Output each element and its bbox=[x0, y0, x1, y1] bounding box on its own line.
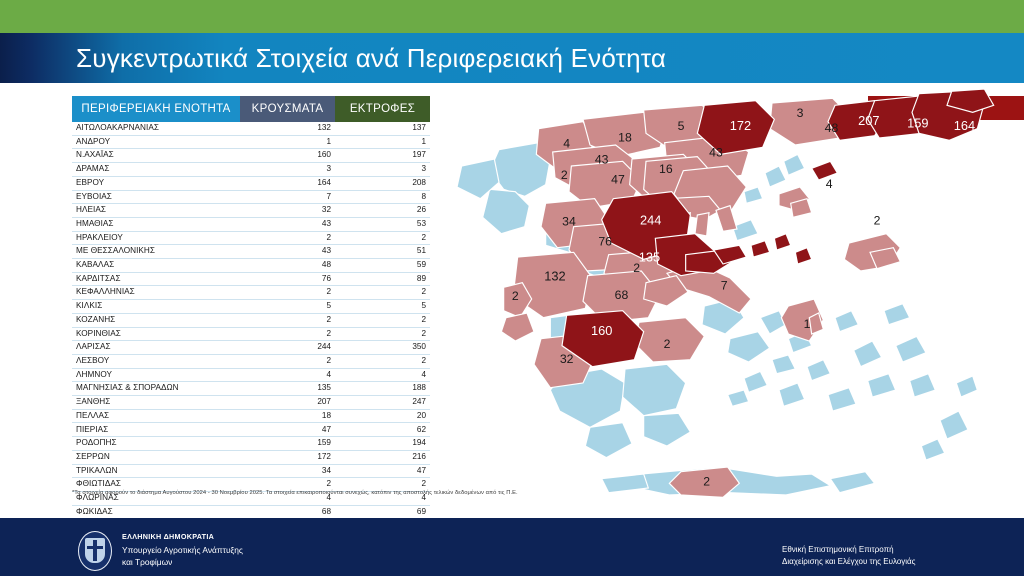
map-region-value: 2 bbox=[703, 475, 710, 489]
cell-region: ΕΒΡΟΥ bbox=[72, 176, 240, 190]
cell-cases: 172 bbox=[240, 450, 335, 464]
cell-cases: 135 bbox=[240, 382, 335, 396]
table-row: ΗΜΑΘΙΑΣ4353 bbox=[72, 217, 430, 231]
cell-cases: 207 bbox=[240, 396, 335, 410]
top-green-band bbox=[0, 0, 1024, 33]
cell-region: ΔΡΑΜΑΣ bbox=[72, 163, 240, 177]
cell-farms: 137 bbox=[335, 122, 430, 135]
cell-region: ΗΡΑΚΛΕΙΟΥ bbox=[72, 231, 240, 245]
greece-choropleth-map: 3207159164172485184434316247434244276135… bbox=[436, 89, 1024, 509]
cell-farms: 62 bbox=[335, 423, 430, 437]
map-region-value: 18 bbox=[618, 131, 632, 145]
table-row: ΚΟΡΙΝΘΙΑΣ22 bbox=[72, 327, 430, 341]
cell-cases: 164 bbox=[240, 176, 335, 190]
table-row: ΚΟΖΑΝΗΣ22 bbox=[72, 313, 430, 327]
cell-farms: 194 bbox=[335, 437, 430, 451]
cell-cases: 76 bbox=[240, 272, 335, 286]
main-content: ΠΕΡΙΦΕΡΕΙΑΚΗ ΕΝΟΤΗΤΑ ΚΡΟΥΣΜΑΤΑ ΕΚΤΡΟΦΕΣ … bbox=[0, 83, 1024, 516]
table-row: ΜΕ ΘΕΣΣΑΛΟΝΙΚΗΣ4351 bbox=[72, 245, 430, 259]
cell-cases: 18 bbox=[240, 409, 335, 423]
cell-cases: 2 bbox=[240, 286, 335, 300]
map-region-value: 172 bbox=[730, 118, 751, 133]
cell-cases: 2 bbox=[240, 231, 335, 245]
map-regions-low-incidence bbox=[501, 98, 900, 497]
table-row: ΤΡΙΚΑΛΩΝ3447 bbox=[72, 464, 430, 478]
cell-region: ΠΙΕΡΙΑΣ bbox=[72, 423, 240, 437]
table-row: ΡΟΔΟΠΗΣ159194 bbox=[72, 437, 430, 451]
map-region-value: 4 bbox=[563, 136, 570, 150]
cell-farms: 20 bbox=[335, 409, 430, 423]
cell-cases: 5 bbox=[240, 300, 335, 314]
cell-region: ΚΟΡΙΝΘΙΑΣ bbox=[72, 327, 240, 341]
cell-cases: 1 bbox=[240, 135, 335, 149]
cell-cases: 2 bbox=[240, 313, 335, 327]
table-row: ΣΕΡΡΩΝ172216 bbox=[72, 450, 430, 464]
map-region-value: 2 bbox=[561, 168, 568, 182]
cell-region: ΣΕΡΡΩΝ bbox=[72, 450, 240, 464]
map-region-value: 160 bbox=[591, 323, 612, 338]
ministry-line-1: ΕΛΛΗΝΙΚΗ ΔΗΜΟΚΡΑΤΙΑ bbox=[122, 532, 243, 541]
table-row: ΕΒΡΟΥ164208 bbox=[72, 176, 430, 190]
cell-farms: 350 bbox=[335, 341, 430, 355]
map-region-value: 1 bbox=[804, 317, 811, 331]
cell-region: ΗΜΑΘΙΑΣ bbox=[72, 217, 240, 231]
committee-line-2: Διαχείρισης και Ελέγχου της Ευλογιάς bbox=[782, 556, 916, 568]
title-bar: Συγκεντρωτικά Στοιχεία ανά Περιφερειακή … bbox=[0, 33, 1024, 83]
cell-farms: 8 bbox=[335, 190, 430, 204]
table-row: ΚΑΡΔΙΤΣΑΣ7689 bbox=[72, 272, 430, 286]
cell-region: ΚΕΦΑΛΛΗΝΙΑΣ bbox=[72, 286, 240, 300]
table-row: ΛΑΡΙΣΑΣ244350 bbox=[72, 341, 430, 355]
cell-farms: 4 bbox=[335, 368, 430, 382]
column-header-farms: ΕΚΤΡΟΦΕΣ bbox=[335, 96, 430, 122]
cell-region: ΜΑΓΝΗΣΙΑΣ & ΣΠΟΡΑΔΩΝ bbox=[72, 382, 240, 396]
cell-farms: 247 bbox=[335, 396, 430, 410]
column-header-region: ΠΕΡΙΦΕΡΕΙΑΚΗ ΕΝΟΤΗΤΑ bbox=[72, 96, 240, 122]
cell-cases: 159 bbox=[240, 437, 335, 451]
map-region-value: 43 bbox=[595, 153, 609, 167]
cell-region: ΛΕΣΒΟΥ bbox=[72, 354, 240, 368]
cell-cases: 7 bbox=[240, 190, 335, 204]
cell-farms: 59 bbox=[335, 259, 430, 273]
cell-farms: 89 bbox=[335, 272, 430, 286]
cell-farms: 2 bbox=[335, 231, 430, 245]
cell-cases: 2 bbox=[240, 354, 335, 368]
cell-farms: 2 bbox=[335, 286, 430, 300]
map-region-value: 4 bbox=[826, 177, 833, 191]
cell-cases: 34 bbox=[240, 464, 335, 478]
map-region-value: 3 bbox=[797, 106, 804, 120]
map-region-value: 2 bbox=[874, 213, 881, 227]
cell-region: ΕΥΒΟΙΑΣ bbox=[72, 190, 240, 204]
map-region-value: 132 bbox=[544, 268, 565, 283]
cell-farms: 3 bbox=[335, 163, 430, 177]
table-row: ΚΑΒΑΛΑΣ4859 bbox=[72, 259, 430, 273]
table-row: ΠΕΛΛΑΣ1820 bbox=[72, 409, 430, 423]
cell-farms: 51 bbox=[335, 245, 430, 259]
cell-region: ΡΟΔΟΠΗΣ bbox=[72, 437, 240, 451]
table-row: ΚΙΛΚΙΣ55 bbox=[72, 300, 430, 314]
committee-block: Εθνική Επιστημονική Επιτροπή Διαχείρισης… bbox=[782, 544, 916, 569]
table-row: ΜΑΓΝΗΣΙΑΣ & ΣΠΟΡΑΔΩΝ135188 bbox=[72, 382, 430, 396]
table-row: ΠΙΕΡΙΑΣ4762 bbox=[72, 423, 430, 437]
map-region-value: 164 bbox=[954, 118, 975, 133]
cell-cases: 3 bbox=[240, 163, 335, 177]
map-region-value: 2 bbox=[633, 261, 640, 275]
table-row: ΛΗΜΝΟΥ44 bbox=[72, 368, 430, 382]
map-region-value: 5 bbox=[678, 119, 685, 133]
table-row: ΑΙΤΩΛΟΑΚΑΡΝΑΝΙΑΣ132137 bbox=[72, 122, 430, 135]
cell-farms: 26 bbox=[335, 204, 430, 218]
map-region-value: 2 bbox=[512, 289, 519, 303]
map-region-value: 68 bbox=[615, 288, 629, 302]
table-row: ΗΡΑΚΛΕΙΟΥ22 bbox=[72, 231, 430, 245]
cell-cases: 160 bbox=[240, 149, 335, 163]
cell-region: Ν.ΑΧΑΪΑΣ bbox=[72, 149, 240, 163]
committee-line-1: Εθνική Επιστημονική Επιτροπή bbox=[782, 544, 916, 556]
cell-cases: 43 bbox=[240, 245, 335, 259]
page-footer: ΕΛΛΗΝΙΚΗ ΔΗΜΟΚΡΑΤΙΑ Υπουργείο Αγροτικής … bbox=[0, 516, 1024, 576]
cell-farms: 208 bbox=[335, 176, 430, 190]
cell-farms: 188 bbox=[335, 382, 430, 396]
table-row: ΕΥΒΟΙΑΣ78 bbox=[72, 190, 430, 204]
cell-cases: 4 bbox=[240, 368, 335, 382]
map-region-value: 207 bbox=[858, 113, 879, 128]
table-row: ΔΡΑΜΑΣ33 bbox=[72, 163, 430, 177]
map-region-value: 48 bbox=[825, 121, 839, 135]
table-header-row: ΠΕΡΙΦΕΡΕΙΑΚΗ ΕΝΟΤΗΤΑ ΚΡΟΥΣΜΑΤΑ ΕΚΤΡΟΦΕΣ bbox=[72, 96, 430, 122]
cell-region: ΠΕΛΛΑΣ bbox=[72, 409, 240, 423]
cell-region: ΛΗΜΝΟΥ bbox=[72, 368, 240, 382]
cell-cases: 244 bbox=[240, 341, 335, 355]
table-row: ΑΝΔΡΟΥ11 bbox=[72, 135, 430, 149]
page-title: Συγκεντρωτικά Στοιχεία ανά Περιφερειακή … bbox=[76, 43, 666, 74]
greek-republic-crest-icon bbox=[78, 531, 112, 571]
cell-cases: 32 bbox=[240, 204, 335, 218]
cell-region: ΗΛΕΙΑΣ bbox=[72, 204, 240, 218]
cell-region: ΜΕ ΘΕΣΣΑΛΟΝΙΚΗΣ bbox=[72, 245, 240, 259]
cell-cases: 43 bbox=[240, 217, 335, 231]
map-region-value: 32 bbox=[560, 352, 574, 366]
cell-region: ΞΑΝΘΗΣ bbox=[72, 396, 240, 410]
cell-cases: 48 bbox=[240, 259, 335, 273]
cell-farms: 197 bbox=[335, 149, 430, 163]
map-region-value: 34 bbox=[562, 215, 576, 229]
cell-cases: 2 bbox=[240, 327, 335, 341]
cell-region: ΚΑΡΔΙΤΣΑΣ bbox=[72, 272, 240, 286]
cell-cases: 47 bbox=[240, 423, 335, 437]
map-region-value: 7 bbox=[721, 279, 728, 293]
map-region-value: 76 bbox=[598, 234, 612, 248]
cell-region: ΚΙΛΚΙΣ bbox=[72, 300, 240, 314]
map-region-value: 43 bbox=[709, 146, 723, 160]
map-region-value: 135 bbox=[639, 250, 660, 265]
table-row: ΛΕΣΒΟΥ22 bbox=[72, 354, 430, 368]
map-region-value: 47 bbox=[611, 173, 625, 187]
cell-cases: 132 bbox=[240, 122, 335, 135]
table-body: ΑΙΤΩΛΟΑΚΑΡΝΑΝΙΑΣ132137ΑΝΔΡΟΥ11Ν.ΑΧΑΪΑΣ16… bbox=[72, 122, 430, 533]
cell-region: ΑΙΤΩΛΟΑΚΑΡΝΑΝΙΑΣ bbox=[72, 122, 240, 135]
cell-region: ΚΑΒΑΛΑΣ bbox=[72, 259, 240, 273]
map-region-value: 159 bbox=[907, 116, 928, 131]
ministry-line-3: και Τροφίμων bbox=[122, 556, 243, 568]
cell-region: ΚΟΖΑΝΗΣ bbox=[72, 313, 240, 327]
ministry-line-2: Υπουργείο Αγροτικής Ανάπτυξης bbox=[122, 544, 243, 556]
cell-farms: 2 bbox=[335, 313, 430, 327]
cell-farms: 216 bbox=[335, 450, 430, 464]
column-header-cases: ΚΡΟΥΣΜΑΤΑ bbox=[240, 96, 335, 122]
table-row: ΗΛΕΙΑΣ3226 bbox=[72, 204, 430, 218]
cell-region: ΑΝΔΡΟΥ bbox=[72, 135, 240, 149]
map-region-value: 2 bbox=[664, 337, 671, 351]
ministry-block: ΕΛΛΗΝΙΚΗ ΔΗΜΟΚΡΑΤΙΑ Υπουργείο Αγροτικής … bbox=[122, 532, 243, 568]
cell-farms: 53 bbox=[335, 217, 430, 231]
cell-farms: 2 bbox=[335, 327, 430, 341]
map-region-value: 244 bbox=[640, 212, 661, 227]
cell-region: ΛΑΡΙΣΑΣ bbox=[72, 341, 240, 355]
cell-farms: 5 bbox=[335, 300, 430, 314]
table-row: ΚΕΦΑΛΛΗΝΙΑΣ22 bbox=[72, 286, 430, 300]
cell-farms: 2 bbox=[335, 354, 430, 368]
table-row: ΞΑΝΘΗΣ207247 bbox=[72, 396, 430, 410]
cell-region: ΤΡΙΚΑΛΩΝ bbox=[72, 464, 240, 478]
map-region-value: 16 bbox=[659, 162, 673, 176]
table-row: Ν.ΑΧΑΪΑΣ160197 bbox=[72, 149, 430, 163]
cell-farms: 47 bbox=[335, 464, 430, 478]
cell-farms: 1 bbox=[335, 135, 430, 149]
